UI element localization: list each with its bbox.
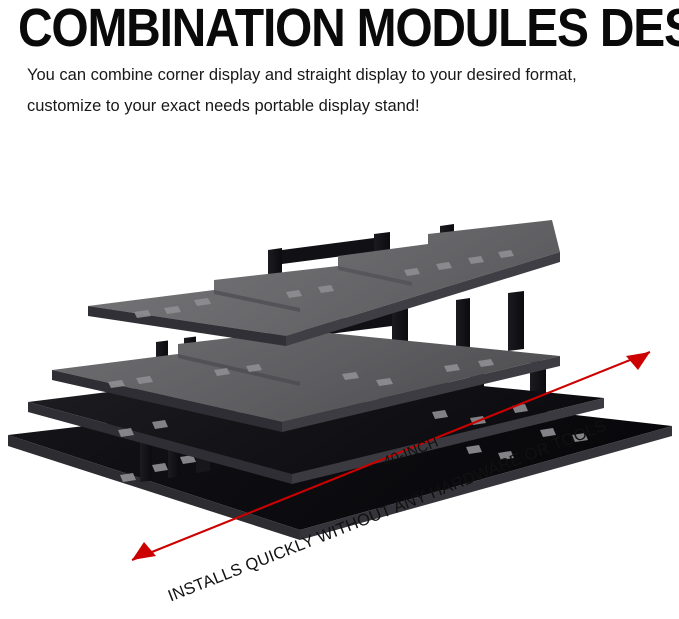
page-title: COMBINATION MODULES DESIGN <box>18 0 679 57</box>
page-subtitle: You can combine corner display and strai… <box>27 60 667 122</box>
subtitle-line-2: customize to your exact needs portable d… <box>27 91 667 122</box>
shelf-tier-1 <box>88 220 560 346</box>
product-illustration <box>0 130 679 619</box>
subtitle-line-1: You can combine corner display and strai… <box>27 66 577 84</box>
product-marketing-image: COMBINATION MODULES DESIGN You can combi… <box>0 0 679 619</box>
